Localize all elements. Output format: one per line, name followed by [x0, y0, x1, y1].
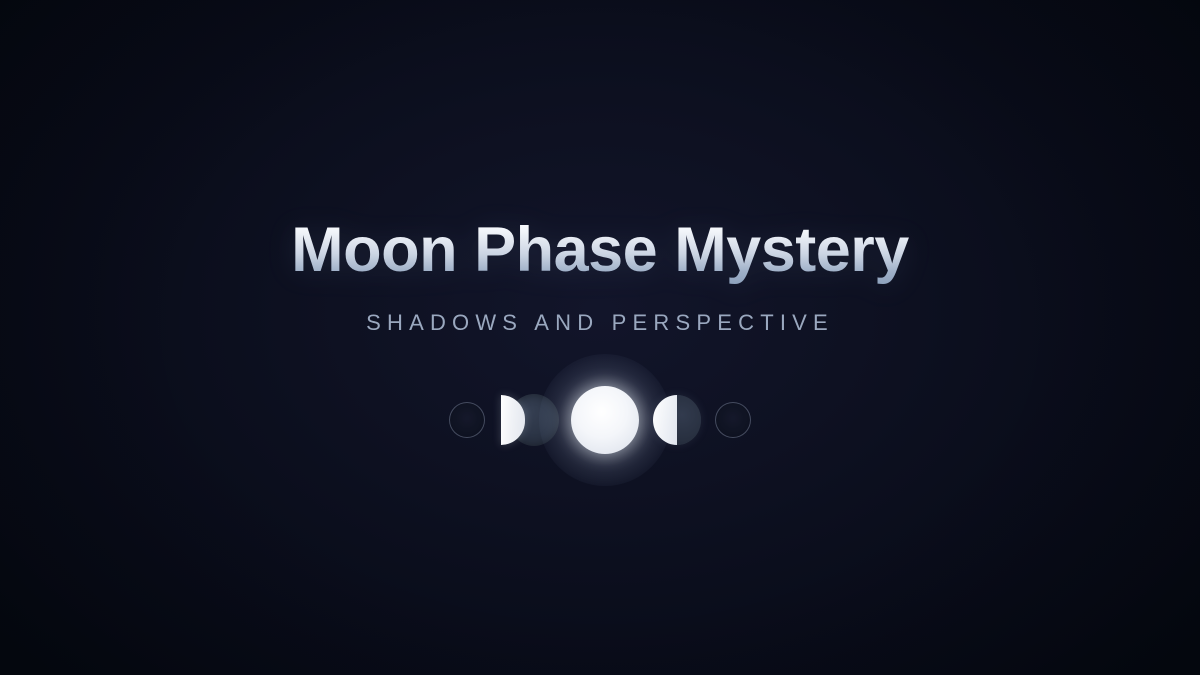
full-moon-disk [571, 386, 639, 454]
moon-phase-waxing-crescent-icon [499, 393, 557, 447]
moon-phase-full-moon-icon [571, 386, 639, 454]
slide-content: Moon Phase Mystery SHADOWS AND PERSPECTI… [0, 0, 1200, 675]
moon-phase-row [0, 370, 1200, 470]
moon-phase-last-quarter-icon [653, 395, 701, 445]
moon-phase-new-moon-end-icon [715, 402, 751, 438]
page-subtitle: SHADOWS AND PERSPECTIVE [0, 310, 1200, 336]
moon-phase-new-moon-icon [449, 402, 485, 438]
half-moon-lit-half [653, 395, 677, 445]
half-moon-disk [653, 395, 701, 445]
page-title: Moon Phase Mystery [0, 216, 1200, 284]
title-slide: Moon Phase Mystery SHADOWS AND PERSPECTI… [0, 0, 1200, 675]
half-moon-shadow-half [677, 395, 701, 445]
